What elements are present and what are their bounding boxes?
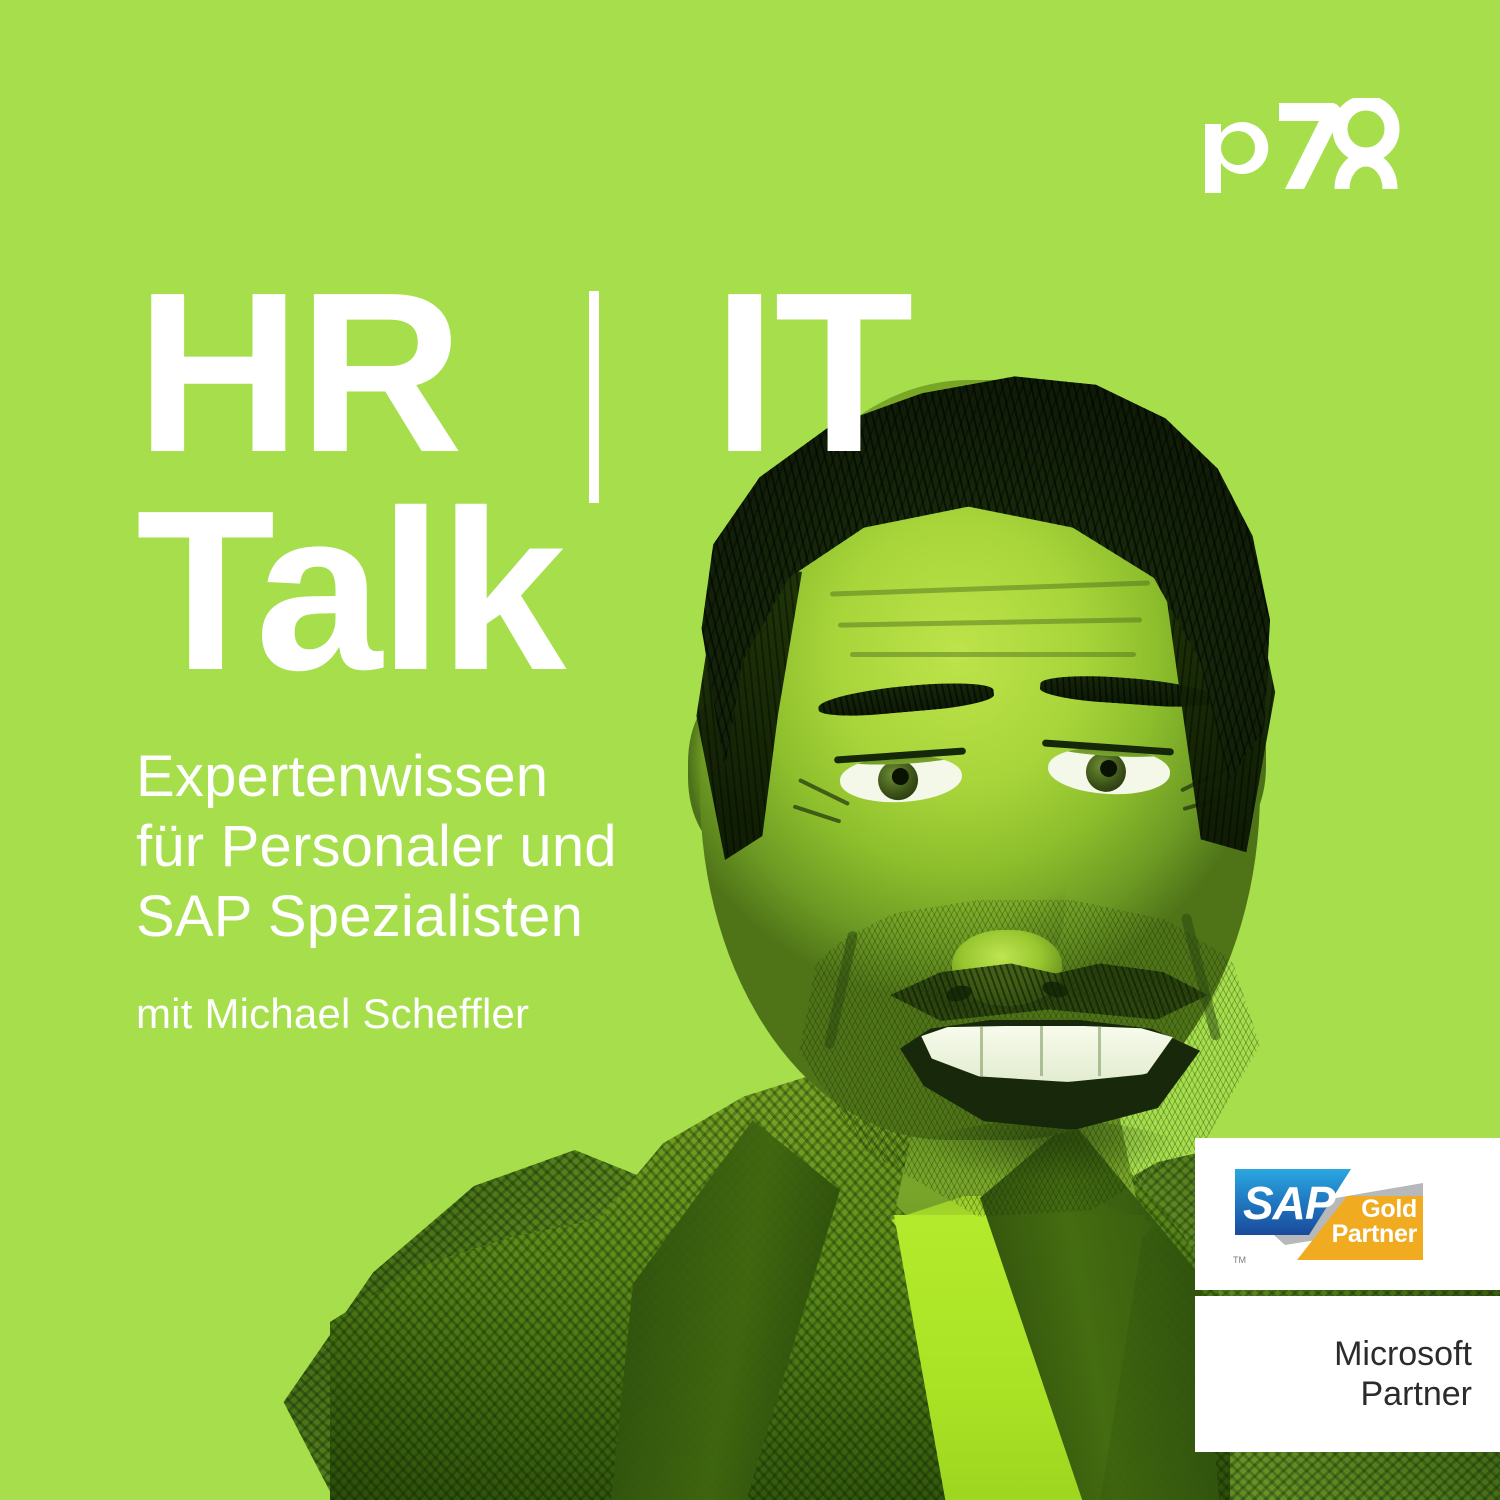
sap-logo-icon: SAP Gold Partner TM [1227, 1161, 1427, 1267]
microsoft-line-1: Microsoft [1334, 1335, 1472, 1373]
eyelid-left [839, 753, 963, 768]
chin-shadow [900, 1120, 1200, 1210]
ear-left [688, 690, 766, 850]
hair-side-right [1160, 545, 1280, 865]
crows-feet [1180, 763, 1234, 792]
subtitle-block: Expertenwissen für Personaler und SAP Sp… [136, 742, 617, 953]
podcast-cover: HR IT Talk Expertenwissen für Personaler… [0, 0, 1500, 1500]
jacket-lapel-right [980, 1120, 1220, 1500]
forehead-line [838, 617, 1142, 627]
tooth-gap [980, 1026, 983, 1076]
teeth [916, 1026, 1178, 1082]
nose [950, 800, 1066, 990]
sap-tier-line-1: Gold [1361, 1195, 1417, 1223]
p78-logo-icon [1201, 98, 1406, 198]
eye-crease-left [834, 747, 966, 763]
mustache [890, 962, 1208, 1034]
pupil-left [891, 768, 909, 786]
pupil-right [1100, 760, 1118, 778]
smile-line-right [1180, 913, 1221, 1042]
nostril-left [945, 983, 974, 1004]
smile-line-left [824, 930, 859, 1049]
title-divider-bar [589, 291, 599, 503]
jacket-lapel-left [610, 1120, 840, 1500]
iris-left [877, 759, 919, 801]
shirt [870, 1215, 1170, 1500]
eyebrow-left [817, 678, 995, 719]
sap-gold-partner-badge: SAP Gold Partner TM [1195, 1138, 1500, 1290]
partner-badges: SAP Gold Partner TM Microsoft Partner [1195, 1138, 1500, 1452]
title-it: IT [713, 282, 912, 464]
tooth-gap [1098, 1026, 1101, 1076]
hair-side-left [692, 560, 802, 860]
trademark-symbol: TM [1233, 1255, 1246, 1265]
title-hr: HR [136, 282, 461, 464]
mouth [900, 1020, 1200, 1130]
sap-tier-line-2: Partner [1332, 1220, 1417, 1248]
crows-feet [793, 804, 842, 823]
svg-text:SAP: SAP [1243, 1177, 1336, 1229]
title-block: HR [136, 282, 461, 464]
p78-logo: p78 [1201, 98, 1406, 203]
eye-left [839, 753, 963, 805]
microsoft-line-2: Partner [1361, 1375, 1473, 1413]
nose-tip [952, 930, 1062, 1006]
crows-feet [798, 778, 850, 806]
ear-right [1192, 680, 1266, 838]
eye-crease-right [1042, 739, 1174, 755]
title-talk: Talk [136, 500, 563, 682]
forehead-line [850, 652, 1136, 657]
microsoft-partner-label: Microsoft Partner [1334, 1334, 1472, 1414]
iris-right [1085, 751, 1127, 793]
eye-right [1047, 745, 1171, 797]
subtitle-line-2: für Personaler und [136, 812, 617, 882]
eyebrow-right [1039, 672, 1216, 710]
subtitle-line-3: SAP Spezialisten [136, 882, 617, 952]
shirt-collar [880, 1196, 1160, 1256]
forehead-line [830, 580, 1150, 596]
subtitle-line-1: Expertenwissen [136, 742, 617, 812]
nostril-right [1041, 979, 1070, 1000]
tooth-gap [1040, 1026, 1043, 1076]
microsoft-partner-badge: Microsoft Partner [1195, 1296, 1500, 1452]
presenter-credit: mit Michael Scheffler [136, 990, 529, 1038]
crows-feet [1182, 793, 1233, 811]
jacket-body [330, 1040, 1230, 1500]
eyelid-right [1047, 745, 1171, 760]
neck [880, 1080, 1150, 1270]
sap-tier-label: Gold Partner [1332, 1197, 1417, 1247]
jacket-left-shoulder [250, 1150, 810, 1500]
beard [790, 900, 1260, 1230]
